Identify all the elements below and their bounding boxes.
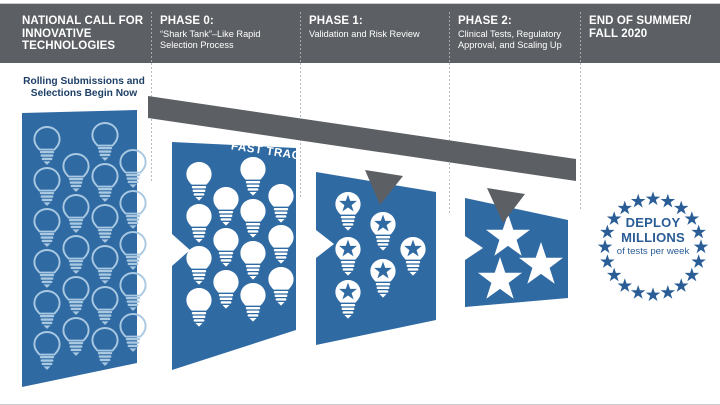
phase-0-panel: [172, 142, 296, 370]
deploy-ring-star: [618, 278, 633, 292]
deploy-label-block: DEPLOY MILLIONS of tests per week: [594, 215, 712, 258]
deploy-ring-star: [661, 285, 676, 299]
deploy-ring-star: [646, 191, 661, 205]
deploy-line-3: of tests per week: [594, 246, 712, 258]
deploy-ring-star: [631, 285, 646, 299]
infographic-canvas: NATIONAL CALL FOR INNOVATIVE TECHNOLOGIE…: [0, 0, 720, 405]
deploy-ring-star: [674, 201, 689, 215]
deploy-line-1: DEPLOY: [594, 215, 712, 230]
deploy-ring-star: [607, 268, 622, 282]
national-call-panel: [22, 110, 146, 387]
deploy-ring-star: [646, 287, 661, 301]
deploy-ring-star: [631, 194, 646, 208]
deploy-ring-star: [685, 268, 700, 282]
phase-1-panel: [316, 172, 436, 345]
deploy-line-2: MILLIONS: [594, 230, 712, 245]
phase-2-panel: [465, 198, 568, 307]
deploy-ring-star: [661, 194, 676, 208]
deploy-ring-star: [674, 278, 689, 292]
deploy-ring-star: [618, 201, 633, 215]
